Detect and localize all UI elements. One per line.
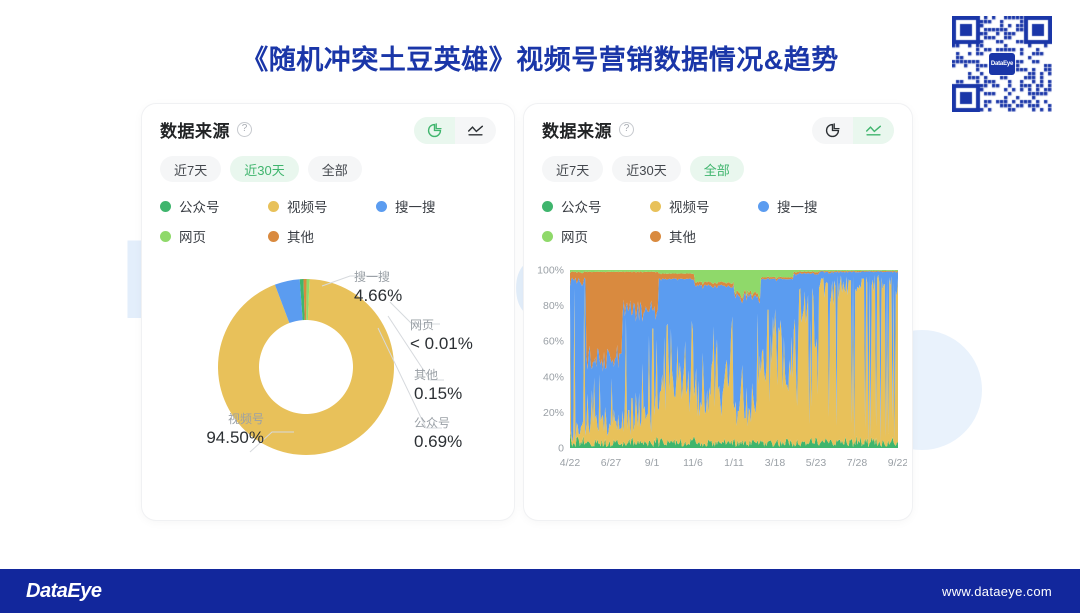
qr-center-logo: DataEye — [989, 53, 1015, 75]
legend-dot-icon — [650, 201, 661, 212]
pie-label-value: 4.66% — [354, 285, 402, 307]
legend-label: 网页 — [179, 226, 206, 246]
pie-label-name: 公众号 — [414, 416, 462, 431]
x-axis-tick-label: 9/1 — [645, 457, 660, 469]
x-axis-tick-label: 5/23 — [806, 457, 827, 469]
stacked-area-chart: 020%40%60%80%100%4/226/279/111/61/113/18… — [524, 262, 912, 492]
pie-label-name: 其他 — [414, 368, 462, 383]
legend-label: 搜一搜 — [395, 196, 436, 216]
chip-last-7-days[interactable]: 近7天 — [160, 156, 221, 182]
chip-last-30-days[interactable]: 近30天 — [230, 156, 298, 182]
pie-label-name: 网页 — [410, 318, 473, 333]
footer-url: www.dataeye.com — [942, 584, 1052, 599]
x-axis-tick-label: 9/22 — [888, 457, 907, 469]
range-chip-row: 近7天 近30天 全部 — [524, 154, 912, 182]
pie-label-other: 其他 0.15% — [414, 368, 462, 405]
legend-item-search[interactable]: 搜一搜 — [758, 196, 894, 216]
card-data-source-trend: 数据来源 ? 近7天 近30天 全部 — [524, 104, 912, 520]
legend-dot-icon — [650, 231, 661, 242]
legend-dot-icon — [758, 201, 769, 212]
y-axis-tick-label: 100% — [537, 265, 564, 277]
x-axis-tick-label: 11/6 — [683, 457, 703, 469]
x-axis-tick-label: 6/27 — [601, 457, 622, 469]
x-axis-tick-label: 7/28 — [847, 457, 868, 469]
pie-label-value: 0.69% — [414, 431, 462, 453]
legend-dot-icon — [376, 201, 387, 212]
pie-label-value: 0.15% — [414, 383, 462, 405]
line-chart-icon[interactable] — [853, 117, 894, 144]
legend-dot-icon — [160, 231, 171, 242]
slide-page: 《随机冲突土豆英雄》视频号营销数据情况&趋势 DataEye DataEye 数… — [0, 0, 1080, 613]
question-mark-icon[interactable]: ? — [237, 122, 252, 137]
card-data-source-pie: 数据来源 ? 近7天 近30天 全部 — [142, 104, 514, 520]
legend: 公众号 视频号 搜一搜 网页 其他 — [524, 182, 912, 246]
legend-item-other[interactable]: 其他 — [268, 226, 376, 246]
legend: 公众号 视频号 搜一搜 网页 其他 — [142, 182, 514, 246]
x-axis-tick-label: 4/22 — [560, 457, 581, 469]
view-toggle-group[interactable] — [414, 117, 496, 144]
legend-item-search[interactable]: 搜一搜 — [376, 196, 496, 216]
legend-label: 视频号 — [287, 196, 328, 216]
legend-item-official-account[interactable]: 公众号 — [160, 196, 268, 216]
view-toggle-group[interactable] — [812, 117, 894, 144]
legend-item-webpage[interactable]: 网页 — [160, 226, 268, 246]
pie-label-value: < 0.01% — [410, 333, 473, 355]
card-title: 数据来源 — [542, 117, 612, 142]
y-axis-tick-label: 0 — [558, 443, 564, 455]
pie-label-official-account: 公众号 0.69% — [414, 416, 462, 453]
legend-dot-icon — [160, 201, 171, 212]
y-axis-tick-label: 20% — [543, 407, 564, 419]
footer-bar: DataEye www.dataeye.com — [0, 569, 1080, 613]
chip-all[interactable]: 全部 — [690, 156, 744, 182]
legend-dot-icon — [268, 201, 279, 212]
legend-label: 视频号 — [669, 196, 710, 216]
pie-label-search: 搜一搜 4.66% — [354, 270, 402, 307]
pie-label-webpage: 网页 < 0.01% — [410, 318, 473, 355]
legend-item-official-account[interactable]: 公众号 — [542, 196, 650, 216]
stacked-area-chart-svg: 020%40%60%80%100%4/226/279/111/61/113/18… — [532, 262, 907, 487]
x-axis-tick-label: 1/11 — [724, 457, 744, 469]
legend-label: 其他 — [287, 226, 314, 246]
legend-label: 其他 — [669, 226, 696, 246]
pie-label-value: 94.50% — [152, 427, 264, 449]
question-mark-icon[interactable]: ? — [619, 122, 634, 137]
footer-logo: DataEye — [26, 580, 101, 603]
legend-item-other[interactable]: 其他 — [650, 226, 758, 246]
legend-label: 搜一搜 — [777, 196, 818, 216]
legend-item-channels[interactable]: 视频号 — [650, 196, 758, 216]
legend-item-webpage[interactable]: 网页 — [542, 226, 650, 246]
chip-last-7-days[interactable]: 近7天 — [542, 156, 603, 182]
chip-last-30-days[interactable]: 近30天 — [612, 156, 680, 182]
chip-all[interactable]: 全部 — [308, 156, 362, 182]
card-header: 数据来源 ? — [142, 104, 514, 154]
legend-label: 网页 — [561, 226, 588, 246]
legend-label: 公众号 — [561, 196, 602, 216]
card-title: 数据来源 — [160, 117, 230, 142]
legend-item-channels[interactable]: 视频号 — [268, 196, 376, 216]
legend-dot-icon — [268, 231, 279, 242]
card-header: 数据来源 ? — [524, 104, 912, 154]
pie-label-name: 搜一搜 — [354, 270, 402, 285]
pie-label-name: 视频号 — [152, 412, 264, 427]
legend-label: 公众号 — [179, 196, 220, 216]
y-axis-tick-label: 40% — [543, 371, 564, 383]
qr-code[interactable]: DataEye — [948, 12, 1056, 116]
x-axis-tick-label: 3/18 — [765, 457, 786, 469]
donut-chart: 搜一搜 4.66% 网页 < 0.01% 其他 0.15% 公众号 0.69% … — [142, 260, 514, 510]
pie-chart-icon[interactable] — [414, 117, 455, 144]
line-chart-icon[interactable] — [455, 117, 496, 144]
legend-dot-icon — [542, 201, 553, 212]
page-title: 《随机冲突土豆英雄》视频号营销数据情况&趋势 — [0, 38, 1080, 77]
legend-dot-icon — [542, 231, 553, 242]
pie-chart-icon[interactable] — [812, 117, 853, 144]
y-axis-tick-label: 60% — [543, 336, 564, 348]
pie-label-channels: 视频号 94.50% — [152, 412, 264, 449]
range-chip-row: 近7天 近30天 全部 — [142, 154, 514, 182]
y-axis-tick-label: 80% — [543, 300, 564, 312]
